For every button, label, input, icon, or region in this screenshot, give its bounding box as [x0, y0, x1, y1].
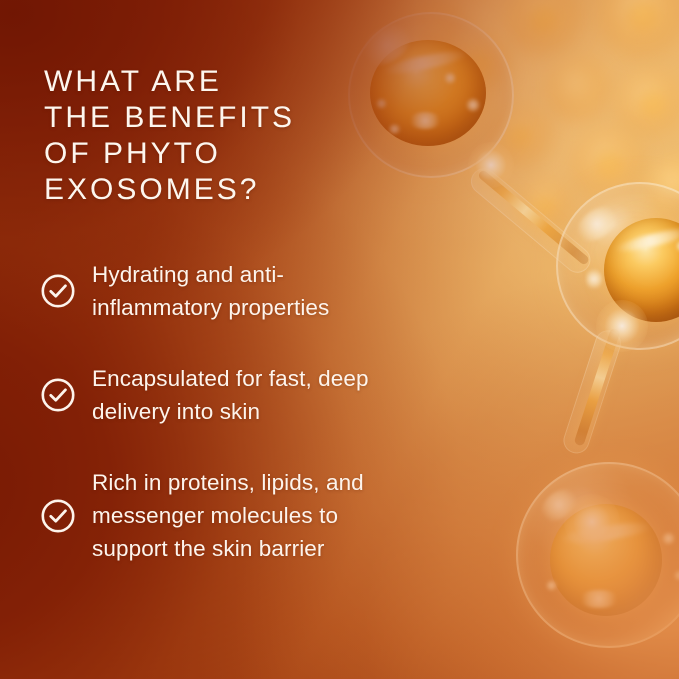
content-overlay: WHAT ARE THE BENEFITS OF PHYTO EXOSOMES?…	[0, 0, 679, 679]
promotional-graphic: WHAT ARE THE BENEFITS OF PHYTO EXOSOMES?…	[0, 0, 679, 679]
check-circle-icon	[40, 273, 76, 309]
list-item: Hydrating and anti- inflammatory propert…	[40, 258, 510, 324]
list-item-label: Hydrating and anti- inflammatory propert…	[92, 258, 329, 324]
list-item-label: Encapsulated for fast, deep delivery int…	[92, 362, 369, 428]
check-circle-icon	[40, 377, 76, 413]
list-item: Rich in proteins, lipids, and messenger …	[40, 466, 510, 565]
list-item: Encapsulated for fast, deep delivery int…	[40, 362, 510, 428]
benefits-list: Hydrating and anti- inflammatory propert…	[40, 258, 510, 565]
check-circle-icon	[40, 498, 76, 534]
page-title: WHAT ARE THE BENEFITS OF PHYTO EXOSOMES?	[44, 64, 295, 208]
list-item-label: Rich in proteins, lipids, and messenger …	[92, 466, 364, 565]
